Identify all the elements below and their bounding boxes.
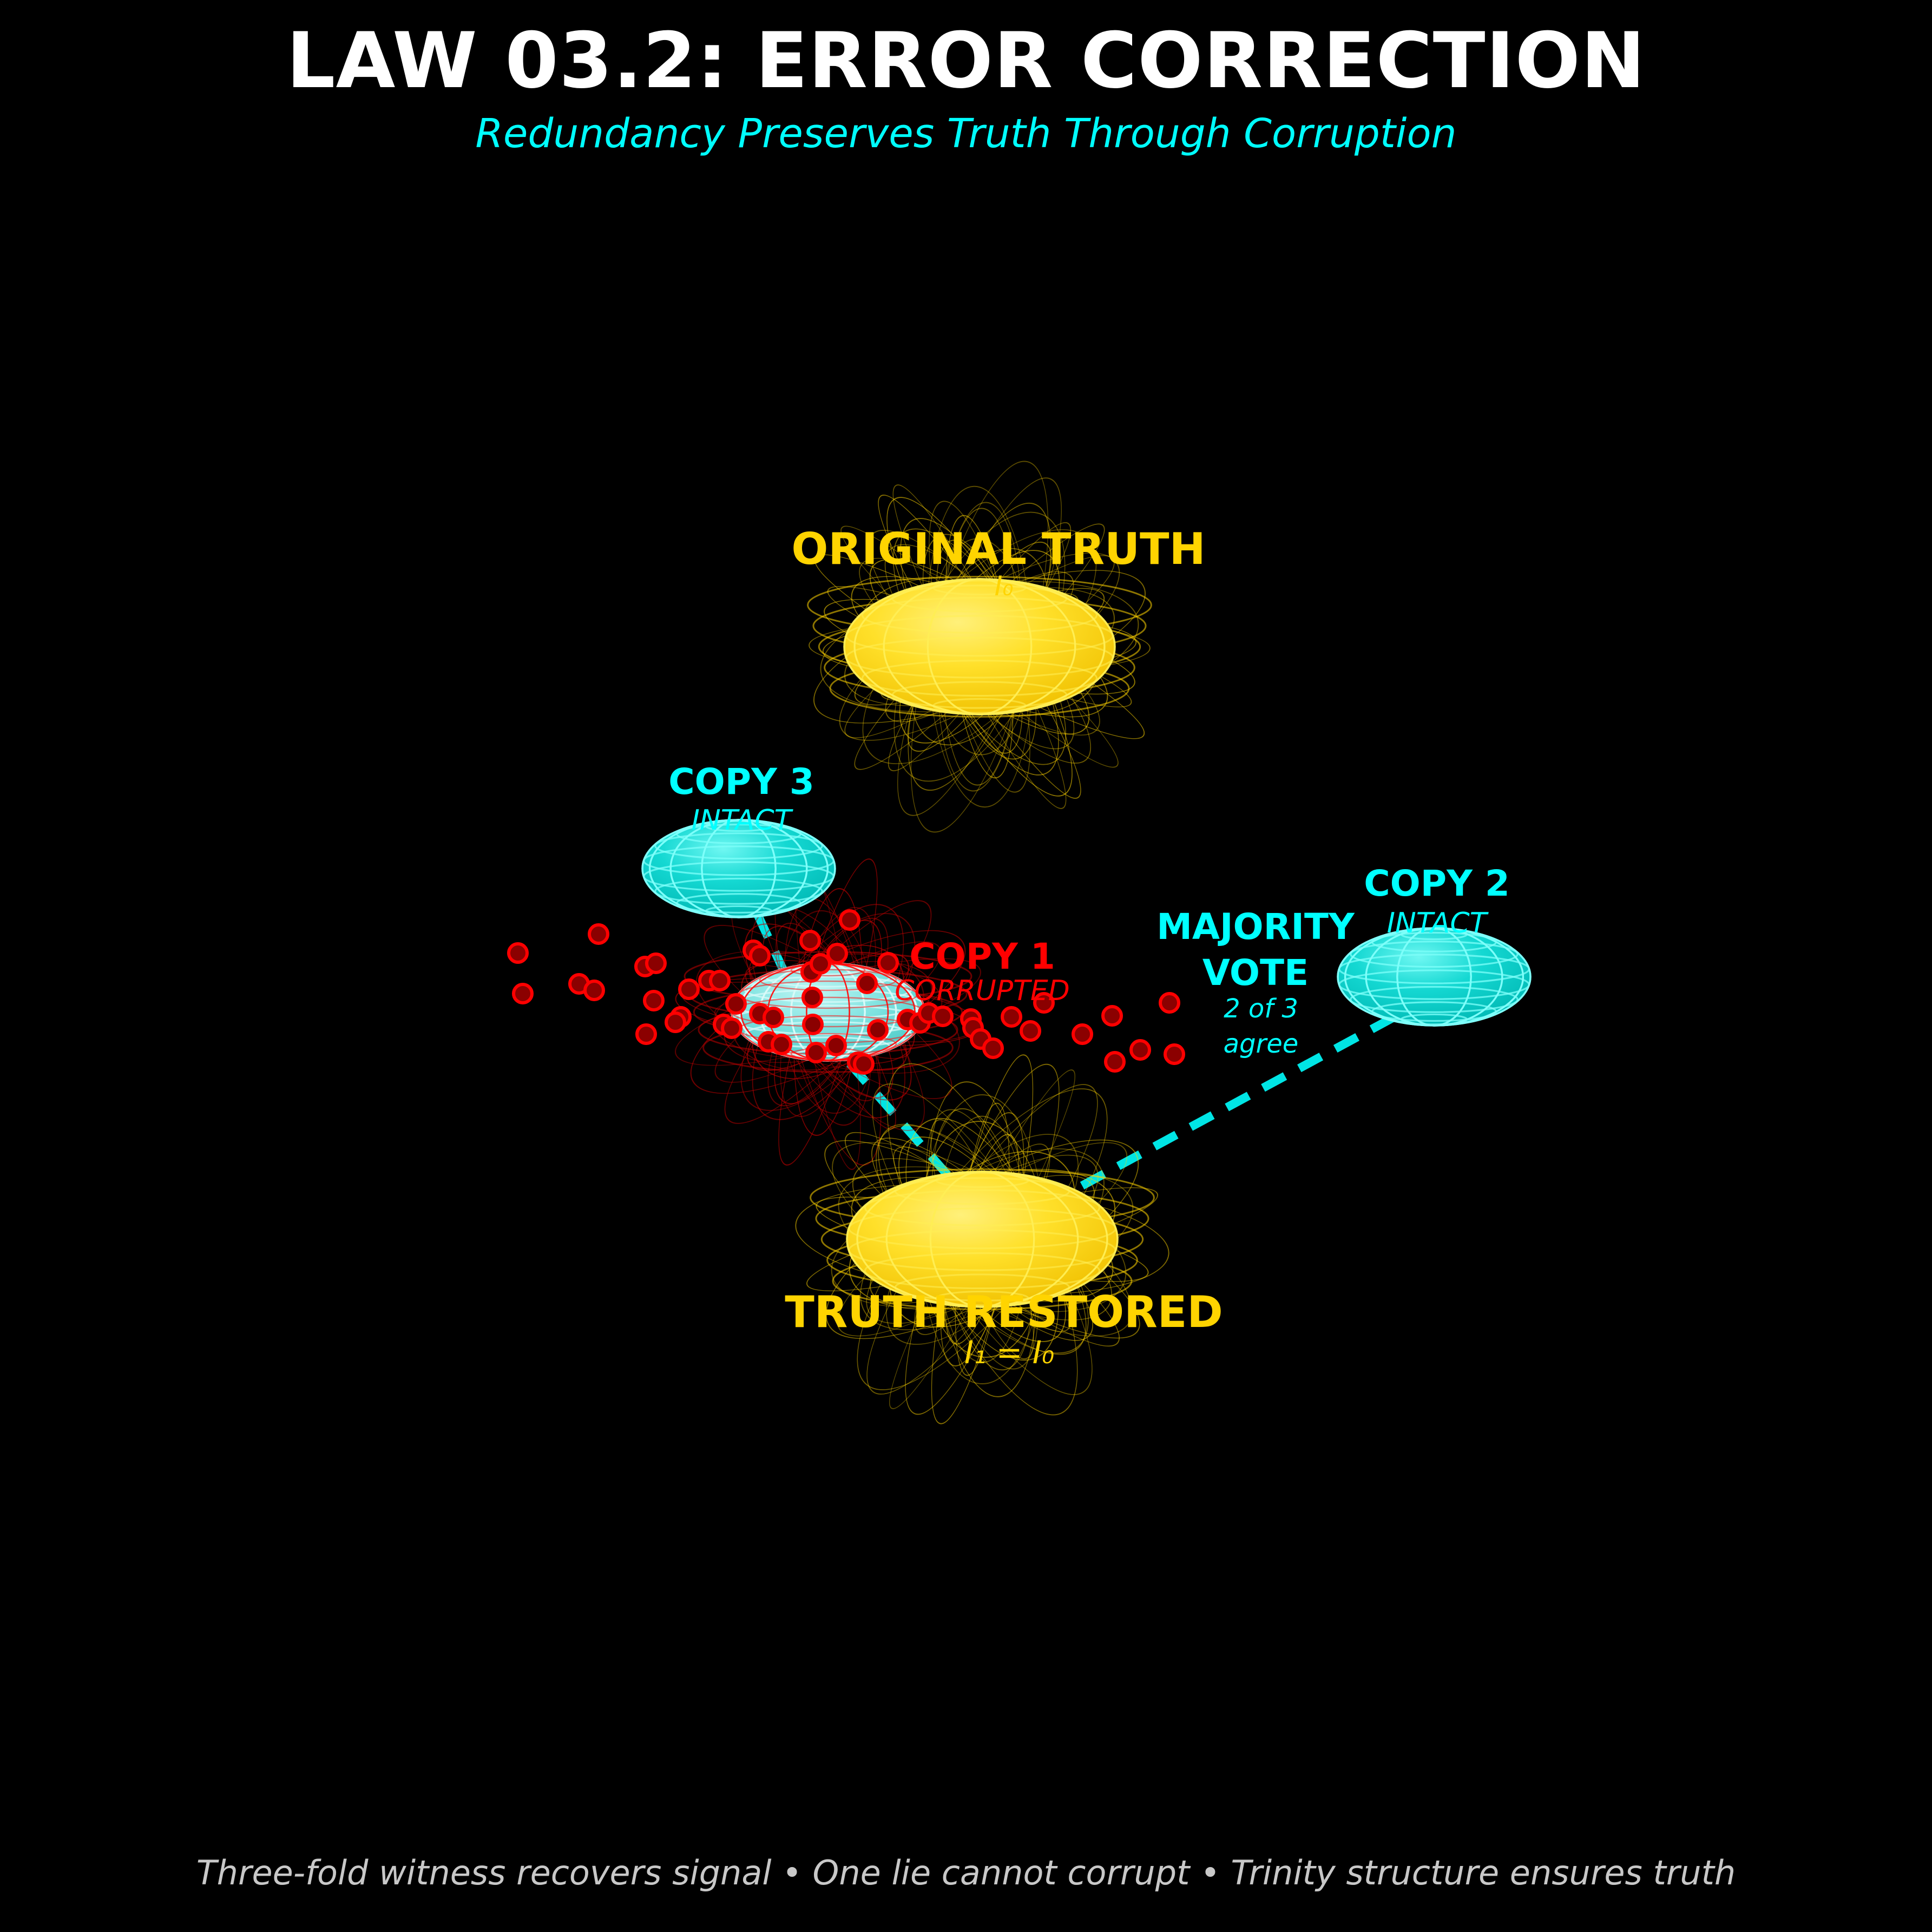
noise-dot bbox=[869, 1021, 887, 1039]
noise-dot bbox=[804, 1015, 822, 1034]
node-body-copy-2 bbox=[1338, 928, 1530, 1026]
noise-dot bbox=[711, 971, 729, 990]
noise-dot bbox=[984, 1039, 1002, 1057]
noise-dot bbox=[514, 984, 532, 1003]
noise-dot bbox=[645, 991, 663, 1010]
noise-dot bbox=[803, 988, 822, 1007]
noise-dot bbox=[589, 925, 608, 943]
noise-dot bbox=[509, 944, 527, 962]
noise-dot bbox=[855, 1055, 873, 1073]
node-label-truth-restored: TRUTH RESTORED bbox=[785, 1291, 1223, 1334]
majority-vote-detail-line2: agree bbox=[1224, 1031, 1299, 1057]
noise-dot bbox=[801, 931, 819, 950]
noise-dot bbox=[647, 954, 665, 972]
majority-vote-detail-line1: 2 of 3 bbox=[1224, 996, 1298, 1022]
node-label-copy-3: COPY 3 bbox=[668, 764, 814, 800]
noise-dot bbox=[1131, 1041, 1149, 1059]
noise-dot bbox=[680, 980, 698, 998]
node-math-original-truth: I₀ bbox=[995, 573, 1014, 600]
noise-dot bbox=[751, 947, 769, 965]
noise-dot bbox=[827, 1036, 845, 1055]
node-status-copy-2: INTACT bbox=[1387, 909, 1487, 937]
node-label-copy-2: COPY 2 bbox=[1364, 866, 1510, 902]
noise-dot bbox=[637, 1025, 655, 1043]
noise-dot bbox=[828, 944, 846, 963]
noise-dot bbox=[1002, 1008, 1021, 1026]
node-bodies bbox=[642, 579, 1530, 1307]
noise-dot bbox=[1103, 1007, 1121, 1025]
noise-dot bbox=[727, 995, 745, 1013]
noise-dot bbox=[858, 974, 876, 993]
noise-dot bbox=[811, 955, 830, 973]
node-body-original-truth bbox=[844, 579, 1115, 714]
noise-dot bbox=[1106, 1053, 1124, 1071]
page-title: LAW 03.2: ERROR CORRECTION bbox=[0, 23, 1932, 100]
node-status-copy-3: INTACT bbox=[692, 806, 792, 834]
node-label-original-truth: ORIGINAL TRUTH bbox=[791, 528, 1205, 571]
majority-vote-label-line2: VOTE bbox=[1202, 955, 1309, 991]
diagram-canvas: LAW 03.2: ERROR CORRECTION Redundancy Pr… bbox=[0, 0, 1932, 1932]
node-math-truth-restored: I₁ = I₀ bbox=[964, 1337, 1054, 1368]
node-label-copy-1: COPY 1 bbox=[909, 939, 1055, 975]
noise-dot bbox=[840, 911, 859, 929]
noise-dot bbox=[585, 981, 603, 1000]
noise-dot bbox=[772, 1035, 791, 1054]
noise-dot bbox=[1073, 1025, 1092, 1043]
noise-dot bbox=[1021, 1022, 1040, 1040]
page-subtitle: Redundancy Preserves Truth Through Corru… bbox=[0, 114, 1932, 154]
noise-dot bbox=[1160, 994, 1179, 1012]
noise-dot bbox=[807, 1043, 825, 1062]
noise-dot bbox=[666, 1013, 685, 1031]
noise-dot bbox=[934, 1007, 952, 1026]
noise-dot bbox=[722, 1019, 741, 1037]
noise-dot bbox=[764, 1008, 783, 1027]
majority-vote-label-line1: MAJORITY bbox=[1156, 909, 1355, 945]
noise-dot bbox=[1165, 1045, 1184, 1063]
footer-caption: Three-fold witness recovers signal • One… bbox=[0, 1856, 1932, 1890]
node-status-copy-1: CORRUPTED bbox=[895, 977, 1070, 1005]
noise-dot bbox=[879, 954, 897, 972]
